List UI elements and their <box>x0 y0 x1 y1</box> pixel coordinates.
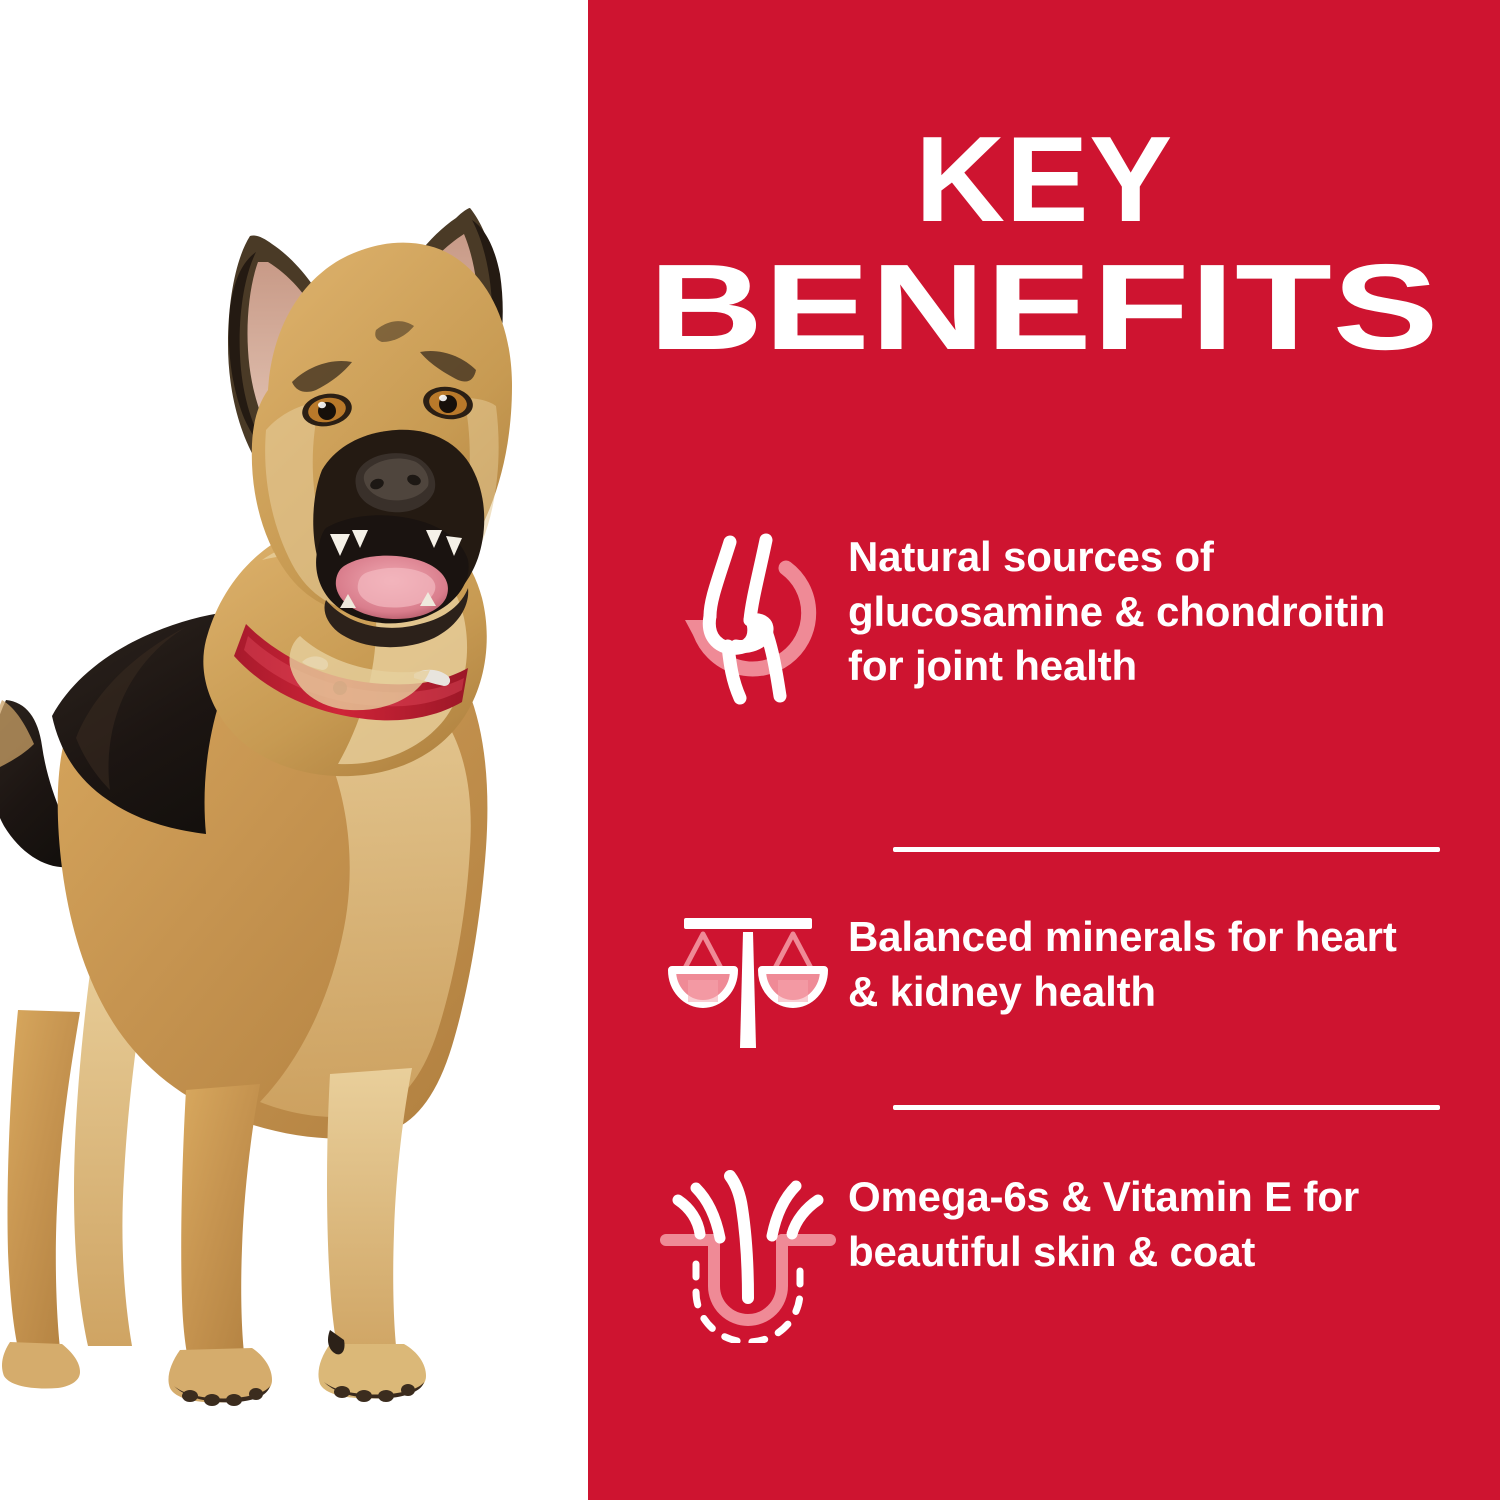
benefit-text-joint-health: Natural sources of glucosamine & chondro… <box>848 528 1428 694</box>
dog-photo <box>0 0 588 1500</box>
title-line-key: KEY <box>588 118 1500 240</box>
page-title: KEY BENEFITS <box>588 118 1500 368</box>
dog-photo-panel <box>0 0 588 1500</box>
benefit-item-skin-coat: Omega-6s & Vitamin E for beautiful skin … <box>648 1168 1500 1343</box>
joint-icon <box>648 528 848 708</box>
balance-scale-icon <box>648 908 848 1058</box>
divider-2 <box>893 1105 1440 1110</box>
benefits-panel: KEY BENEFITS <box>588 0 1500 1500</box>
key-benefits-product-panel: KEY BENEFITS <box>0 0 1500 1500</box>
benefit-item-minerals: Balanced minerals for heart & kidney hea… <box>648 908 1500 1058</box>
benefit-item-joint-health: Natural sources of glucosamine & chondro… <box>648 528 1500 708</box>
divider-1 <box>893 847 1440 852</box>
benefit-text-minerals: Balanced minerals for heart & kidney hea… <box>848 908 1428 1019</box>
title-line-benefits: BENEFITS <box>588 246 1500 368</box>
benefit-text-skin-coat: Omega-6s & Vitamin E for beautiful skin … <box>848 1168 1428 1279</box>
hair-follicle-icon <box>648 1168 848 1343</box>
